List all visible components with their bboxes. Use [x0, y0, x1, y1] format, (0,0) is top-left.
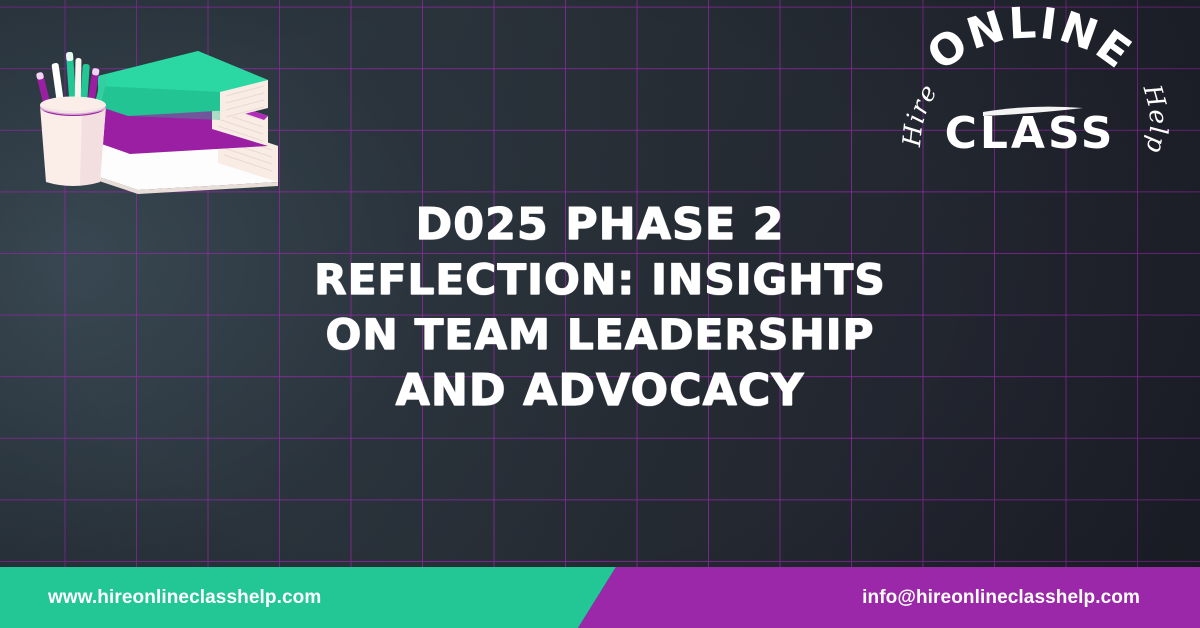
- footer-bar: www.hireonlineclasshelp.com info@hireonl…: [0, 567, 1200, 628]
- title-line-3: ON TEAM LEADERSHIP: [300, 308, 900, 363]
- title-line-1: D025 PHASE 2: [300, 196, 900, 253]
- footer-website-link[interactable]: www.hireonlineclasshelp.com: [48, 567, 321, 628]
- title-line-2: REFLECTION: INSIGHTS: [300, 253, 900, 308]
- brand-logo[interactable]: Hire ONLINE CLASS Help: [905, 26, 1155, 176]
- promo-banner: Hire ONLINE CLASS Help D025 PHASE 2 REFL…: [0, 0, 1200, 628]
- title-line-4: AND ADVOCACY: [300, 362, 900, 419]
- logo-help-script: Help: [1137, 80, 1173, 156]
- footer-email-link[interactable]: info@hireonlineclasshelp.com: [862, 567, 1140, 628]
- books-and-pencil-cup-illustration: [20, 30, 300, 200]
- logo-class-text: CLASS: [945, 108, 1116, 159]
- book-top-icon: [98, 51, 268, 120]
- page-title: D025 PHASE 2 REFLECTION: INSIGHTS ON TEA…: [300, 196, 900, 420]
- pencil-cup-icon: [40, 97, 106, 187]
